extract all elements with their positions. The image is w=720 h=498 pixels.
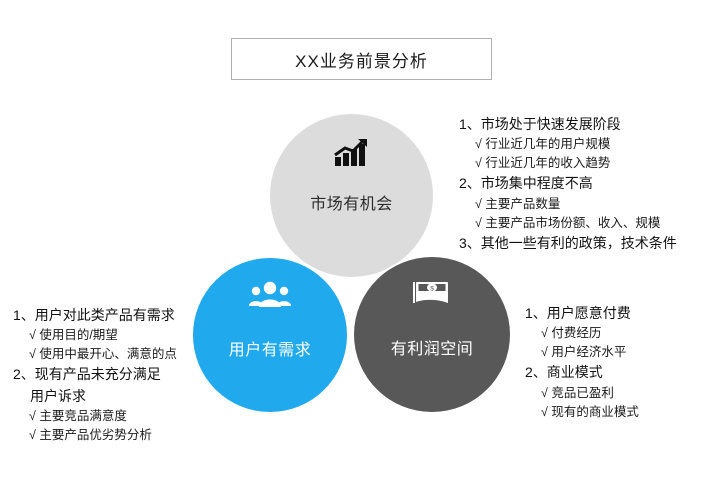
note-line: √ 行业近几年的收入趋势 bbox=[459, 154, 677, 173]
venn-circle-profit-room[interactable]: $ 有利润空间 bbox=[352, 255, 512, 414]
note-line: √ 主要产品优劣势分析 bbox=[13, 426, 177, 445]
venn-label-profit-room: 有利润空间 bbox=[391, 335, 474, 359]
user-group-icon bbox=[248, 278, 292, 312]
banknote-icon: $ bbox=[410, 277, 454, 311]
note-line: √ 主要产品市场份额、收入、规模 bbox=[459, 214, 677, 233]
note-line: 3、其他一些有利的政策，技术条件 bbox=[459, 233, 677, 254]
note-line: 2、市场集中程度不高 bbox=[459, 173, 677, 194]
note-line: 1、用户对此类产品有需求 bbox=[13, 305, 177, 326]
note-line: √ 现有的商业模式 bbox=[525, 403, 639, 422]
note-line: √ 使用目的/期望 bbox=[13, 326, 177, 345]
venn-circle-market-opportunity[interactable]: 市场有机会 bbox=[270, 114, 433, 277]
page-title: XX业务前景分析 bbox=[295, 47, 428, 72]
growth-chart-icon bbox=[333, 136, 371, 170]
venn-label-market-opportunity: 市场有机会 bbox=[310, 190, 393, 214]
note-line: √ 用户经济水平 bbox=[525, 343, 639, 362]
note-line: √ 竞品已盈利 bbox=[525, 384, 639, 403]
notes-market-opportunity: 1、市场处于快速发展阶段 √ 行业近几年的用户规模 √ 行业近几年的收入趋势 2… bbox=[459, 114, 677, 254]
note-line: √ 使用中最开心、满意的点 bbox=[13, 345, 177, 364]
slide-canvas: XX业务前景分析 市场有机会 用 bbox=[0, 0, 720, 498]
note-line: 2、商业模式 bbox=[525, 362, 639, 383]
note-line: 1、市场处于快速发展阶段 bbox=[459, 114, 677, 135]
notes-profit-room: 1、用户愿意付费 √ 付费经历 √ 用户经济水平 2、商业模式 √ 竞品已盈利 … bbox=[525, 303, 639, 422]
svg-text:$: $ bbox=[430, 285, 434, 292]
notes-user-demand: 1、用户对此类产品有需求 √ 使用目的/期望 √ 使用中最开心、满意的点 2、现… bbox=[13, 305, 177, 445]
note-line: √ 主要竞品满意度 bbox=[13, 407, 177, 426]
venn-label-user-demand: 用户有需求 bbox=[229, 336, 312, 360]
page-title-box: XX业务前景分析 bbox=[231, 38, 492, 80]
note-line: 2、现有产品未充分满足 bbox=[13, 364, 177, 385]
venn-circle-user-demand[interactable]: 用户有需求 bbox=[191, 256, 349, 414]
note-line: √ 主要产品数量 bbox=[459, 195, 677, 214]
note-line: √ 付费经历 bbox=[525, 324, 639, 343]
note-line: 1、用户愿意付费 bbox=[525, 303, 639, 324]
note-line: 用户诉求 bbox=[13, 386, 177, 407]
note-line: √ 行业近几年的用户规模 bbox=[459, 135, 677, 154]
